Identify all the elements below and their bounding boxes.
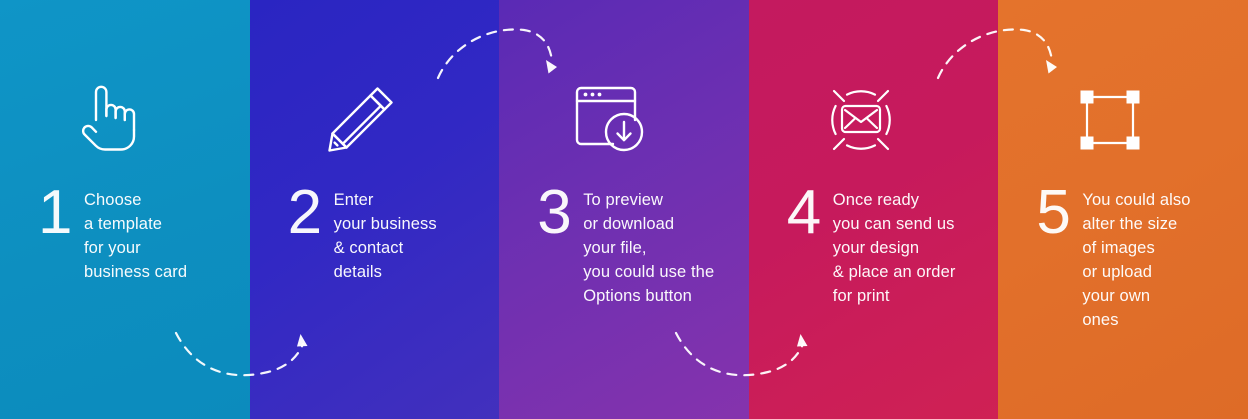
step-5-line-4: or upload <box>1082 260 1242 284</box>
step-5-line-3: of images <box>1082 236 1242 260</box>
step-3-line-1: To preview <box>583 188 743 212</box>
step-3-number: 3 <box>537 182 583 244</box>
step-5-number: 5 <box>1036 182 1082 244</box>
resize-handles-icon <box>1068 78 1152 158</box>
step-panel-3[interactable]: 3 To preview or download your file, you … <box>499 0 749 419</box>
step-4-number: 4 <box>787 182 833 244</box>
step-panel-4[interactable]: 4 Once ready you can send us your design… <box>749 0 999 419</box>
how-it-works-banner: 1 Choose a template for your business ca… <box>0 0 1248 419</box>
pointing-hand-icon <box>70 78 154 158</box>
step-4-line-1: Once ready <box>833 188 993 212</box>
step-3-text: To preview or download your file, you co… <box>583 182 743 308</box>
step-4-line-4: & place an order <box>833 260 993 284</box>
step-4-text: Once ready you can send us your design &… <box>833 182 993 308</box>
step-4-line-3: your design <box>833 236 993 260</box>
browser-download-icon <box>569 78 653 158</box>
step-4-line-5: for print <box>833 284 993 308</box>
step-2-line-3: & contact <box>334 236 494 260</box>
step-1-number: 1 <box>38 182 84 244</box>
step-panel-2[interactable]: 2 Enter your business & contact details <box>250 0 500 419</box>
step-1-line-3: for your <box>84 236 244 260</box>
step-2-line-4: details <box>334 260 494 284</box>
step-4-body: 4 Once ready you can send us your design… <box>787 182 993 308</box>
step-4-line-2: you can send us <box>833 212 993 236</box>
pencil-icon <box>320 78 404 158</box>
step-3-line-5: Options button <box>583 284 743 308</box>
step-2-line-1: Enter <box>334 188 494 212</box>
step-2-line-2: your business <box>334 212 494 236</box>
step-3-line-3: your file, <box>583 236 743 260</box>
envelope-send-icon <box>819 78 903 158</box>
step-3-line-4: you could use the <box>583 260 743 284</box>
step-2-body: 2 Enter your business & contact details <box>288 182 494 284</box>
step-1-line-4: business card <box>84 260 244 284</box>
step-panel-5[interactable]: 5 You could also alter the size of image… <box>998 0 1248 419</box>
step-5-line-2: alter the size <box>1082 212 1242 236</box>
step-5-text: You could also alter the size of images … <box>1082 182 1242 332</box>
step-5-line-1: You could also <box>1082 188 1242 212</box>
step-1-line-2: a template <box>84 212 244 236</box>
step-5-line-5: your own <box>1082 284 1242 308</box>
step-3-line-2: or download <box>583 212 743 236</box>
step-2-number: 2 <box>288 182 334 244</box>
step-1-body: 1 Choose a template for your business ca… <box>38 182 244 284</box>
step-1-text: Choose a template for your business card <box>84 182 244 284</box>
step-panel-1[interactable]: 1 Choose a template for your business ca… <box>0 0 250 419</box>
step-1-line-1: Choose <box>84 188 244 212</box>
step-5-body: 5 You could also alter the size of image… <box>1036 182 1242 332</box>
step-3-body: 3 To preview or download your file, you … <box>537 182 743 308</box>
step-2-text: Enter your business & contact details <box>334 182 494 284</box>
step-5-line-6: ones <box>1082 308 1242 332</box>
